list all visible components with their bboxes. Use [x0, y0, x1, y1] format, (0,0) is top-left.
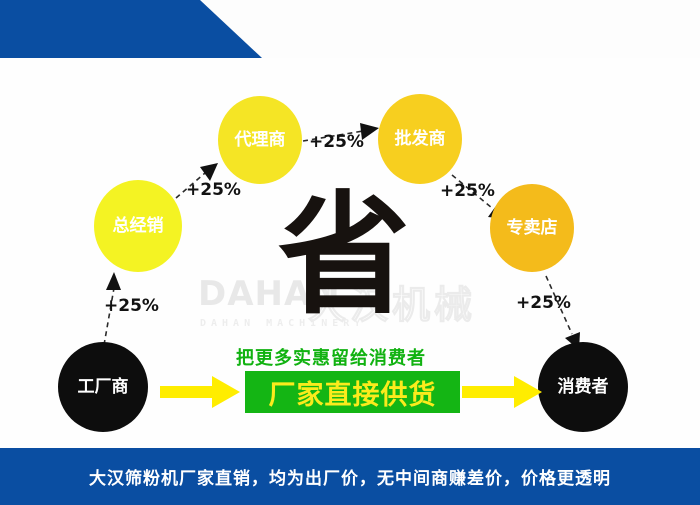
footer-banner: 大汉筛粉机厂家直销，均为出厂价，无中间商赚差价，价格更透明 [0, 448, 700, 505]
node-wholesale[interactable]: 批发商 [378, 94, 462, 184]
infographic-stage: 价格便宜 DAHAN 大汉机械 DAHAN MACHINERY 省 工厂商 总经… [0, 0, 700, 505]
footer-text: 大汉筛粉机厂家直销，均为出厂价，无中间商赚差价，价格更透明 [89, 464, 611, 489]
node-general-label: 总经销 [113, 217, 164, 236]
markup-label-agent-wholesale: +25% [309, 132, 364, 152]
arrowhead-general-agent [200, 163, 218, 181]
node-factory[interactable]: 工厂商 [58, 342, 148, 432]
node-agent-label: 代理商 [235, 131, 286, 150]
markup-label-factory-general: +25% [104, 296, 159, 316]
markup-label-wholesale-store: +25% [440, 181, 495, 201]
arrow-left-icon [160, 376, 240, 408]
arrowhead-factory-general [106, 272, 121, 290]
node-consumer-label: 消费者 [558, 378, 609, 397]
node-store-label: 专卖店 [507, 219, 558, 238]
node-agent[interactable]: 代理商 [218, 96, 302, 184]
node-consumer[interactable]: 消费者 [538, 342, 628, 432]
markup-label-general-agent: +25% [186, 180, 241, 200]
node-factory-label: 工厂商 [78, 378, 129, 397]
node-store[interactable]: 专卖店 [490, 184, 574, 272]
arrow-right-icon [462, 376, 542, 408]
node-wholesale-label: 批发商 [395, 130, 446, 149]
center-glyph: 省 [278, 190, 410, 322]
markup-label-store-consumer: +25% [516, 293, 571, 313]
node-general[interactable]: 总经销 [94, 180, 182, 272]
